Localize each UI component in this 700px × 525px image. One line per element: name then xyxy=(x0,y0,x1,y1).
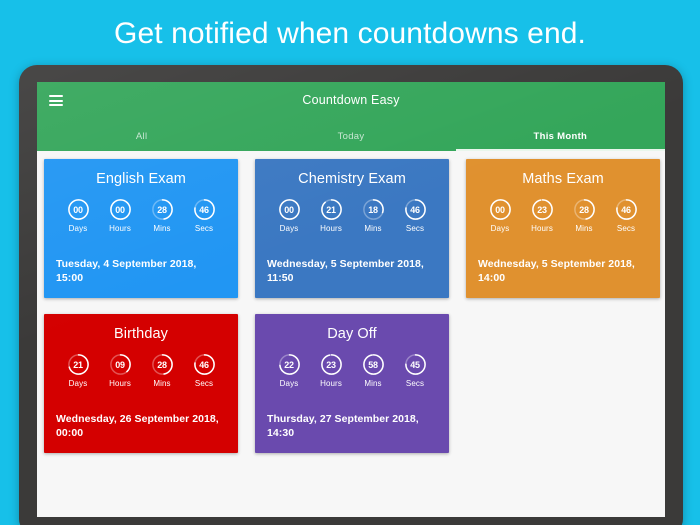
card-date: Wednesday, 5 September 2018, 11:50 xyxy=(267,257,437,285)
card-row: Birthday 21 Days 09 Hours xyxy=(44,314,665,453)
days-label: Days xyxy=(482,224,518,233)
countdown-units: 00 Days 23 Hours 28 xyxy=(478,198,648,233)
unit-hours: 00 Hours xyxy=(102,198,138,233)
hours-ring-icon: 23 xyxy=(320,353,343,376)
countdown-units: 00 Days 21 Hours 18 xyxy=(267,198,437,233)
hours-ring-icon: 00 xyxy=(109,198,132,221)
unit-days: 00 Days xyxy=(60,198,96,233)
hours-value: 23 xyxy=(531,198,554,221)
mins-label: Mins xyxy=(144,224,180,233)
countdown-units: 21 Days 09 Hours 28 xyxy=(56,353,226,388)
card-title: Day Off xyxy=(267,325,437,343)
days-value: 00 xyxy=(489,198,512,221)
card-title: Birthday xyxy=(56,325,226,343)
unit-mins: 28 Mins xyxy=(566,198,602,233)
days-value: 22 xyxy=(278,353,301,376)
app-title: Countdown Easy xyxy=(37,93,665,107)
mins-ring-icon: 28 xyxy=(151,353,174,376)
days-label: Days xyxy=(60,379,96,388)
mins-value: 28 xyxy=(573,198,596,221)
unit-hours: 23 Hours xyxy=(313,353,349,388)
days-label: Days xyxy=(60,224,96,233)
tablet-device-frame: Countdown Easy All Today This Month Engl… xyxy=(19,65,683,525)
mins-value: 58 xyxy=(362,353,385,376)
days-ring-icon: 00 xyxy=(489,198,512,221)
unit-days: 00 Days xyxy=(271,198,307,233)
secs-label: Secs xyxy=(186,224,222,233)
unit-secs: 46 Secs xyxy=(397,198,433,233)
tab-all[interactable]: All xyxy=(37,121,246,151)
days-value: 00 xyxy=(67,198,90,221)
unit-mins: 28 Mins xyxy=(144,353,180,388)
countdown-card[interactable]: Chemistry Exam 00 Days 21 Hour xyxy=(255,159,449,298)
hours-value: 21 xyxy=(320,198,343,221)
secs-label: Secs xyxy=(397,379,433,388)
secs-value: 46 xyxy=(193,198,216,221)
tab-today[interactable]: Today xyxy=(246,121,455,151)
tab-bar: All Today This Month xyxy=(37,121,665,151)
unit-secs: 46 Secs xyxy=(186,353,222,388)
card-date: Wednesday, 5 September 2018, 14:00 xyxy=(478,257,648,285)
card-title: Chemistry Exam xyxy=(267,170,437,188)
hours-ring-icon: 09 xyxy=(109,353,132,376)
card-date: Thursday, 27 September 2018, 14:30 xyxy=(267,412,437,440)
card-row: English Exam 00 Days 00 Hours xyxy=(44,159,665,298)
days-ring-icon: 00 xyxy=(278,198,301,221)
secs-value: 46 xyxy=(404,198,427,221)
promo-headline: Get notified when countdowns end. xyxy=(0,14,700,54)
secs-label: Secs xyxy=(397,224,433,233)
hours-value: 00 xyxy=(109,198,132,221)
tablet-screen: Countdown Easy All Today This Month Engl… xyxy=(37,82,665,517)
unit-mins: 18 Mins xyxy=(355,198,391,233)
hours-ring-icon: 23 xyxy=(531,198,554,221)
hours-label: Hours xyxy=(524,224,560,233)
app-bar: Countdown Easy xyxy=(37,82,665,121)
mins-ring-icon: 28 xyxy=(151,198,174,221)
hours-label: Hours xyxy=(313,224,349,233)
countdown-list: English Exam 00 Days 00 Hours xyxy=(37,151,665,517)
days-value: 00 xyxy=(278,198,301,221)
hours-label: Hours xyxy=(102,224,138,233)
unit-days: 22 Days xyxy=(271,353,307,388)
unit-secs: 46 Secs xyxy=(186,198,222,233)
secs-ring-icon: 46 xyxy=(193,353,216,376)
unit-mins: 58 Mins xyxy=(355,353,391,388)
unit-days: 21 Days xyxy=(60,353,96,388)
days-label: Days xyxy=(271,224,307,233)
days-ring-icon: 00 xyxy=(67,198,90,221)
days-label: Days xyxy=(271,379,307,388)
card-date: Wednesday, 26 September 2018, 00:00 xyxy=(56,412,226,440)
countdown-card[interactable]: Maths Exam 00 Days 23 Hours xyxy=(466,159,660,298)
card-title: Maths Exam xyxy=(478,170,648,188)
countdown-card[interactable]: Birthday 21 Days 09 Hours xyxy=(44,314,238,453)
secs-value: 45 xyxy=(404,353,427,376)
secs-ring-icon: 46 xyxy=(404,198,427,221)
hours-label: Hours xyxy=(313,379,349,388)
secs-value: 46 xyxy=(615,198,638,221)
empty-grid-slot xyxy=(466,314,660,453)
countdown-card[interactable]: Day Off 22 Days 23 Hours xyxy=(255,314,449,453)
countdown-units: 00 Days 00 Hours 28 xyxy=(56,198,226,233)
mins-label: Mins xyxy=(355,224,391,233)
unit-mins: 28 Mins xyxy=(144,198,180,233)
unit-secs: 46 Secs xyxy=(608,198,644,233)
countdown-card[interactable]: English Exam 00 Days 00 Hours xyxy=(44,159,238,298)
unit-hours: 23 Hours xyxy=(524,198,560,233)
unit-days: 00 Days xyxy=(482,198,518,233)
mins-value: 28 xyxy=(151,198,174,221)
mins-ring-icon: 18 xyxy=(362,198,385,221)
mins-label: Mins xyxy=(355,379,391,388)
hours-value: 23 xyxy=(320,353,343,376)
mins-label: Mins xyxy=(566,224,602,233)
unit-hours: 21 Hours xyxy=(313,198,349,233)
mins-ring-icon: 58 xyxy=(362,353,385,376)
mins-value: 18 xyxy=(362,198,385,221)
mins-value: 28 xyxy=(151,353,174,376)
days-ring-icon: 21 xyxy=(67,353,90,376)
card-date: Tuesday, 4 September 2018, 15:00 xyxy=(56,257,226,285)
mins-label: Mins xyxy=(144,379,180,388)
tab-this-month[interactable]: This Month xyxy=(456,121,665,151)
hours-ring-icon: 21 xyxy=(320,198,343,221)
days-value: 21 xyxy=(67,353,90,376)
secs-value: 46 xyxy=(193,353,216,376)
unit-secs: 45 Secs xyxy=(397,353,433,388)
hours-value: 09 xyxy=(109,353,132,376)
card-title: English Exam xyxy=(56,170,226,188)
secs-ring-icon: 46 xyxy=(193,198,216,221)
secs-ring-icon: 45 xyxy=(404,353,427,376)
hours-label: Hours xyxy=(102,379,138,388)
secs-label: Secs xyxy=(608,224,644,233)
unit-hours: 09 Hours xyxy=(102,353,138,388)
secs-ring-icon: 46 xyxy=(615,198,638,221)
days-ring-icon: 22 xyxy=(278,353,301,376)
mins-ring-icon: 28 xyxy=(573,198,596,221)
secs-label: Secs xyxy=(186,379,222,388)
countdown-units: 22 Days 23 Hours 58 xyxy=(267,353,437,388)
